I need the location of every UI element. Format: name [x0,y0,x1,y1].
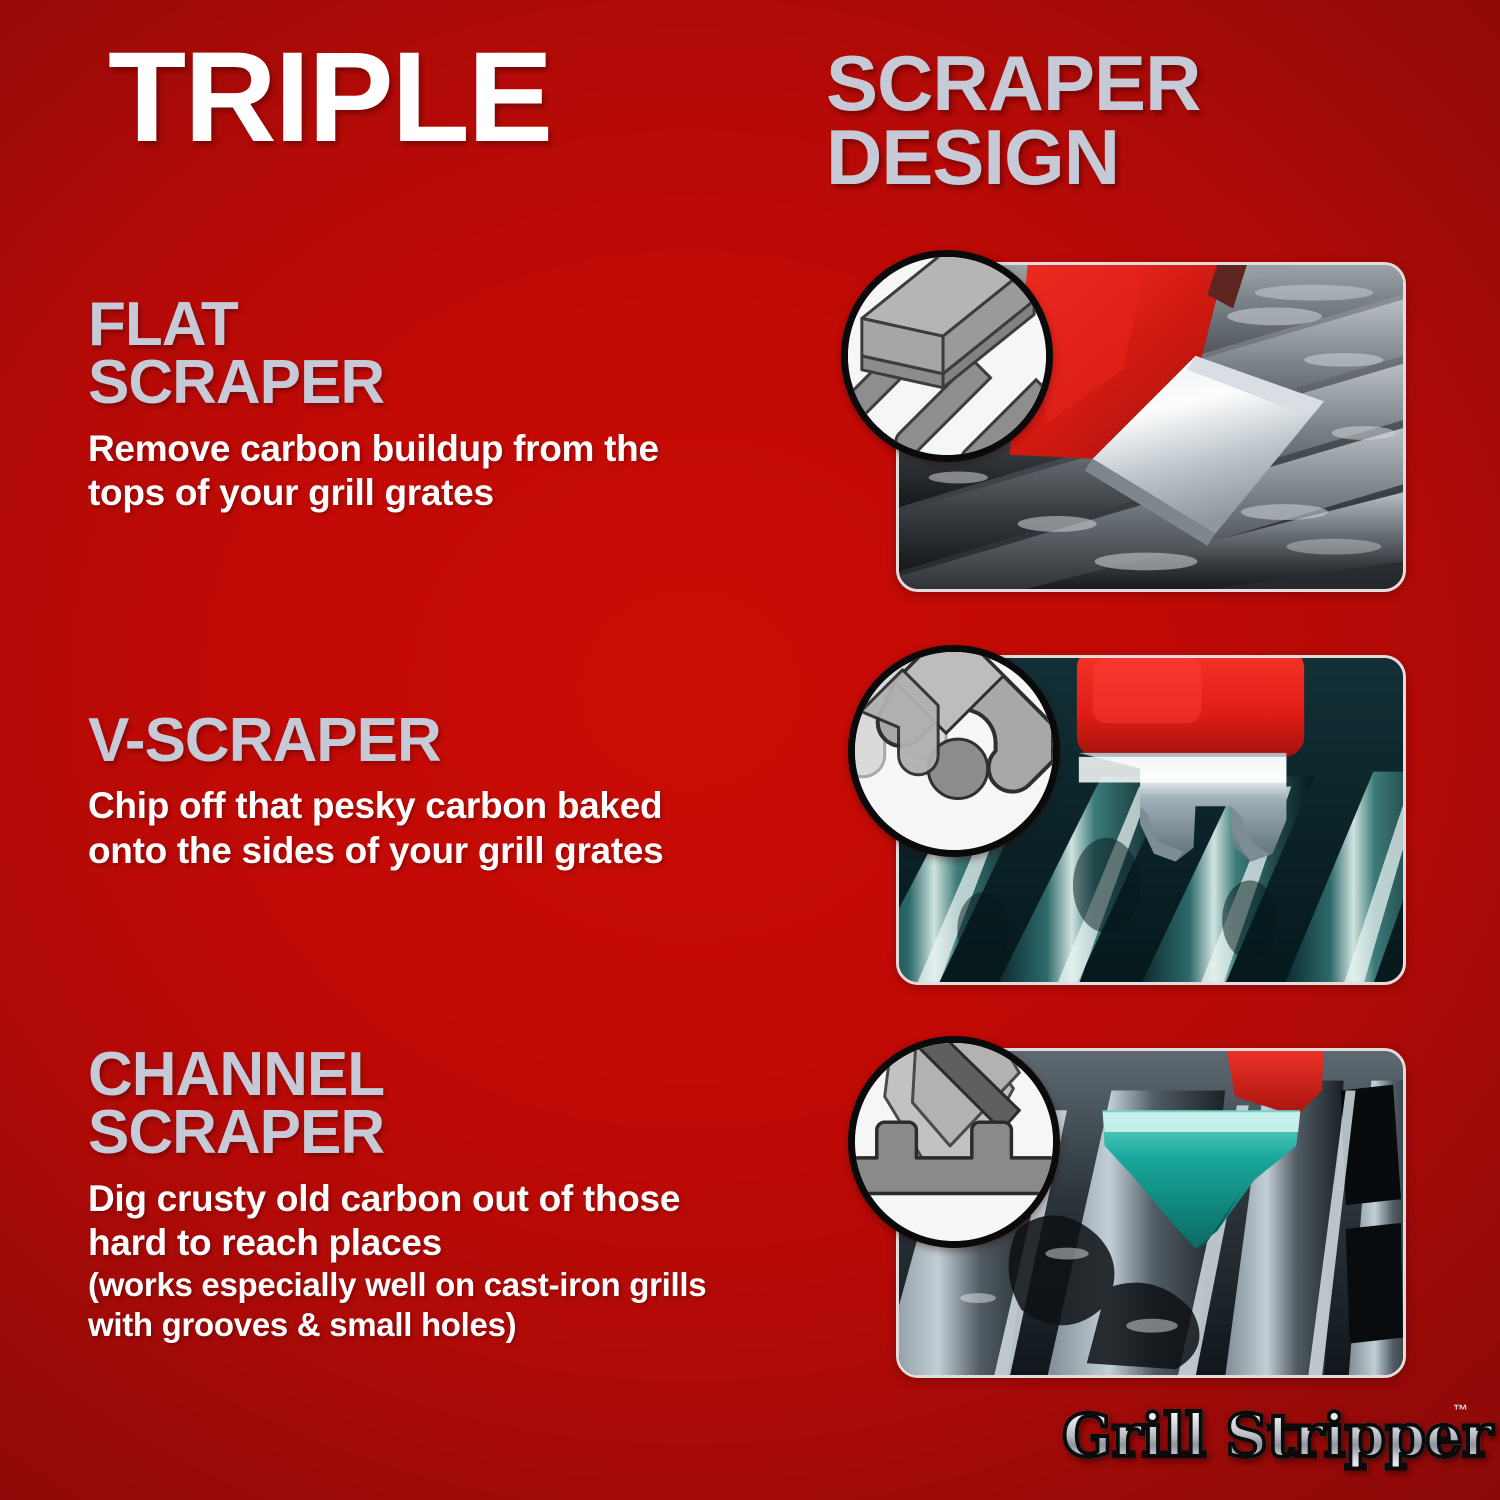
feature-description: Remove carbon buildup from the tops of y… [88,427,708,516]
feature-title-line-1: V-SCRAPER [88,712,708,770]
page-subtitle-line-2: DESIGN [826,120,1200,194]
feature-title: V-SCRAPER [88,712,708,770]
infographic-root: TRIPLE SCRAPER DESIGN FLAT SCRAPER Remov… [0,0,1500,1500]
page-subtitle-line-1: SCRAPER [826,46,1200,120]
page-subtitle: SCRAPER DESIGN [826,46,1200,194]
page-title: TRIPLE [108,34,551,162]
brand-name: Grill Stripper [1062,1398,1492,1474]
feature-note: (works especially well on cast-iron gril… [88,1265,708,1344]
brand-logo: Grill Stripper ™ [1062,1398,1452,1474]
flat-scraper-diagram-art [848,257,1046,455]
v-scraper-diagram-art [855,652,1053,850]
feature-description: Dig crusty old carbon out of those hard … [88,1177,708,1266]
feature-flat-scraper: FLAT SCRAPER Remove carbon buildup from … [88,296,708,515]
trademark-symbol: ™ [1453,1402,1468,1419]
feature-v-scraper: V-SCRAPER Chip off that pesky carbon bak… [88,712,708,873]
channel-scraper-diagram-icon [848,1036,1060,1248]
feature-title-line-1: FLAT [88,296,708,354]
feature-title: FLAT SCRAPER [88,296,708,413]
v-scraper-diagram-icon [848,645,1060,857]
flat-scraper-diagram-icon [841,250,1053,462]
header: TRIPLE SCRAPER DESIGN [0,0,1500,215]
feature-title-line-2: SCRAPER [88,354,708,412]
feature-title-line-2: SCRAPER [88,1104,708,1162]
feature-title-line-1: CHANNEL [88,1046,708,1104]
feature-channel-scraper: CHANNEL SCRAPER Dig crusty old carbon ou… [88,1046,708,1345]
feature-title: CHANNEL SCRAPER [88,1046,708,1163]
channel-scraper-diagram-art [855,1043,1053,1241]
feature-description: Chip off that pesky carbon baked onto th… [88,784,708,873]
